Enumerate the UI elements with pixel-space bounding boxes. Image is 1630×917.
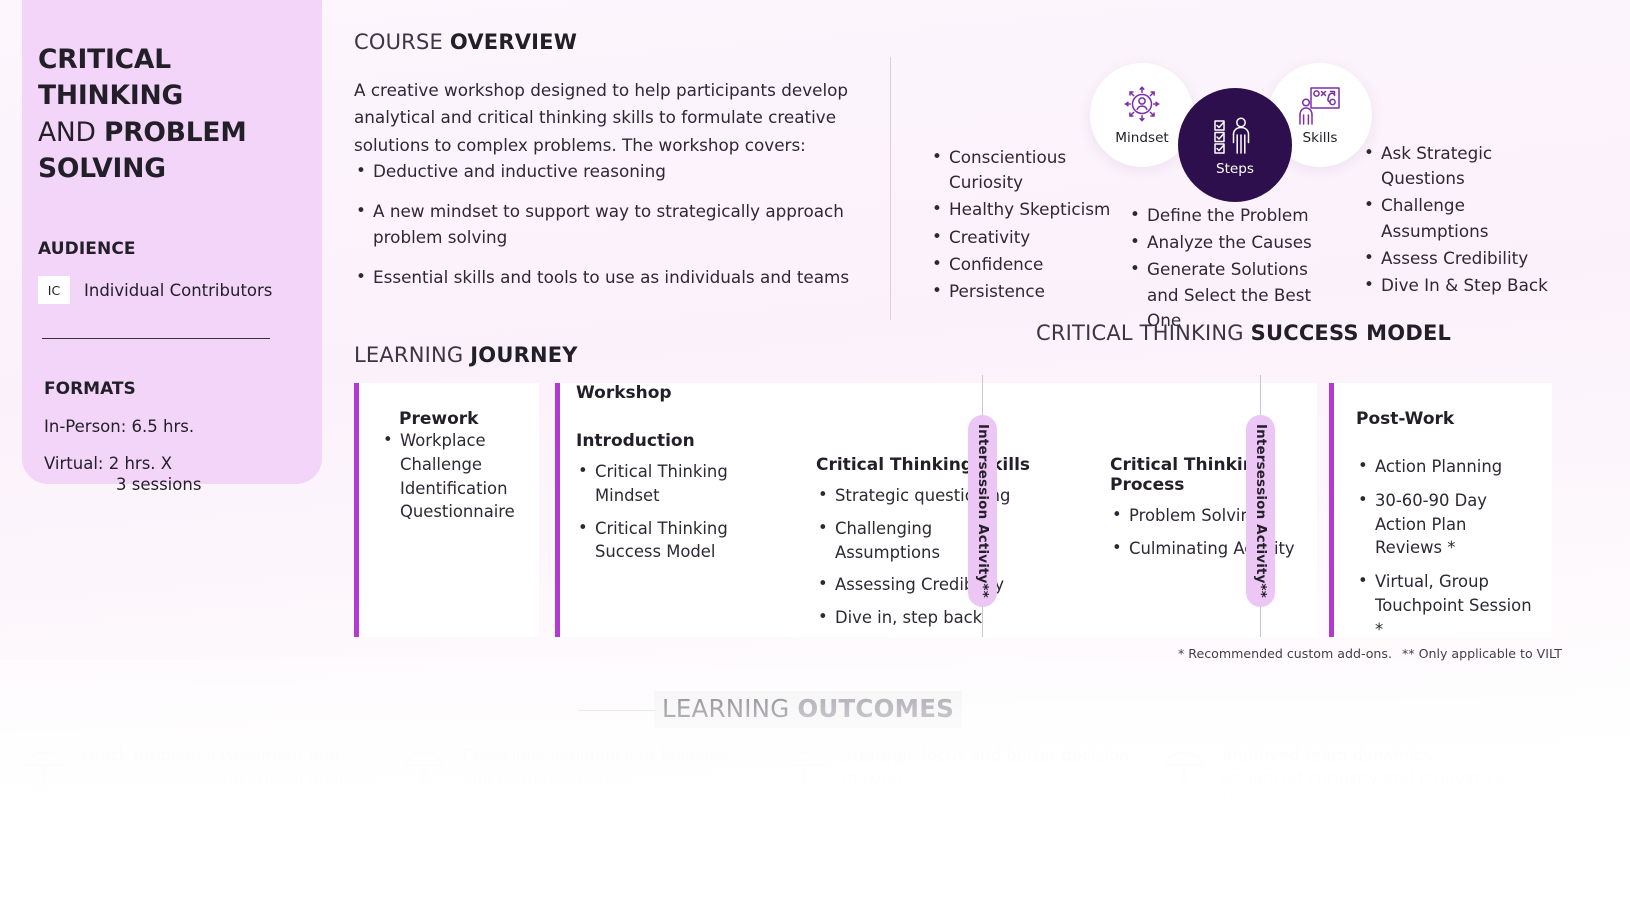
list-item: Assessing Credibility: [816, 573, 1041, 597]
postwork-bullet-list: Action Planning 30-60-90 Day Action Plan…: [1356, 455, 1532, 641]
audience-chip: IC: [38, 276, 70, 304]
outcomes-rule: [578, 710, 656, 711]
list-item: Analyze the Causes: [1128, 230, 1343, 255]
page-title: CRITICAL THINKING AND PROBLEM SOLVING: [38, 42, 296, 187]
page-title-line1: CRITICAL THINKING: [38, 44, 183, 111]
journey-card-prework: Prework Workplace Challenge Identificati…: [354, 383, 539, 637]
column-subtitle: Critical Thinking Skills: [816, 455, 1041, 475]
outcome-text: Strategic focus and better decision maki…: [842, 745, 1140, 813]
list-item: Problem Solving: [1110, 504, 1305, 528]
journey-card-postwork: Post-Work Action Planning 30-60-90 Day A…: [1329, 383, 1552, 637]
page-title-line2a: AND: [38, 117, 104, 148]
umbrella-outcome-icon: 3: [782, 745, 828, 813]
list-item: Virtual, Group Touchpoint Session *: [1356, 570, 1532, 641]
formats-label: FORMATS: [44, 379, 296, 399]
badge-label: Skills: [1303, 130, 1338, 146]
workshop-column-introduction: Workshop Introduction Critical Thinking …: [576, 383, 772, 573]
list-item: Culminating Activity: [1110, 537, 1305, 561]
intersession-activity-pill-2: Intersession Activity**: [1246, 415, 1275, 607]
introduction-bullet-list: Critical Thinking Mindset Critical Think…: [576, 460, 772, 564]
course-one-pager: CRITICAL THINKING AND PROBLEM SOLVING AU…: [0, 0, 1630, 917]
card-title: Prework: [399, 409, 519, 429]
learning-journey-cards: Prework Workplace Challenge Identificati…: [354, 383, 1552, 637]
list-item: Persistence: [930, 279, 1145, 304]
list-item: 30-60-90 Day Action Plan Reviews *: [1356, 489, 1532, 560]
list-item: Challenge Assumptions: [1362, 193, 1562, 243]
intersession-label: Intersession Activity**: [1253, 424, 1268, 598]
format-inperson: In-Person: 6.5 hrs.: [44, 417, 296, 436]
umbrella-outcome-icon: 1: [22, 745, 68, 813]
overview-heading: COURSE OVERVIEW: [354, 30, 874, 54]
outcomes-items: 1 Quick problem assessment and resolutio…: [0, 745, 1630, 813]
prework-bullet-list: Workplace Challenge Identification Quest…: [381, 429, 519, 524]
format-virtual-sessions: 3 sessions: [116, 475, 296, 494]
list-item: Healthy Skepticism: [930, 197, 1145, 222]
umbrella-outcome-icon: 4: [1162, 745, 1208, 813]
outcome-item-4: 4 Improved team dynamics, enhanced curio…: [1140, 745, 1520, 813]
process-column-bullet-list: Problem Solving Culminating Activity: [1110, 504, 1305, 561]
list-item: Critical Thinking Success Model: [576, 517, 772, 565]
svg-text:1: 1: [39, 766, 49, 785]
overview-paragraph: A creative workshop designed to help par…: [354, 77, 874, 159]
list-item: Action Planning: [1356, 455, 1532, 479]
mindset-person-arrows-icon: [1119, 85, 1165, 127]
list-item: Dive in, step back: [816, 606, 1041, 630]
audience-value: Individual Contributors: [84, 281, 272, 300]
workshop-columns: Workshop Introduction Critical Thinking …: [560, 383, 1322, 637]
workshop-column-skills: Critical Thinking Skills Strategic quest…: [816, 383, 1041, 639]
success-model-title: CRITICAL THINKING SUCCESS MODEL: [1036, 321, 1451, 345]
skills-column-bullet-list: Strategic questioning Challenging Assump…: [816, 484, 1041, 630]
list-item: Essential skills and tools to use as ind…: [354, 265, 874, 290]
course-overview-section: COURSE OVERVIEW A creative workshop desi…: [354, 30, 874, 305]
audience-row: IC Individual Contributors: [38, 276, 296, 304]
column-subtitle: Introduction: [576, 431, 772, 451]
list-item: Strategic questioning: [816, 484, 1041, 508]
badge-steps: Steps: [1178, 88, 1292, 202]
intersession-activity-pill-1: Intersession Activity**: [968, 415, 997, 607]
svg-text:3: 3: [799, 766, 809, 785]
success-model-title-light: CRITICAL THINKING: [1036, 321, 1251, 345]
outcome-text: Quick problem assessment and resolution …: [82, 745, 380, 813]
list-item: Creativity: [930, 225, 1145, 250]
intersession-label: Intersession Activity**: [975, 424, 990, 598]
sidebar-panel: CRITICAL THINKING AND PROBLEM SOLVING AU…: [22, 0, 322, 484]
badge-label: Steps: [1216, 161, 1254, 177]
list-item: Ask Strategic Questions: [1362, 141, 1562, 191]
audience-label: AUDIENCE: [38, 239, 296, 259]
workshop-column-process: Critical Thinking Process Problem Solvin…: [1110, 383, 1305, 570]
overview-heading-light: COURSE: [354, 30, 450, 54]
svg-text:2: 2: [419, 766, 429, 785]
mindset-bullet-list: Conscientious Curiosity Healthy Skeptici…: [930, 145, 1145, 306]
badge-label: Mindset: [1115, 130, 1169, 146]
list-item: Critical Thinking Mindset: [576, 460, 772, 508]
outcome-text: Conscious avoidance of fallacies and cog…: [462, 745, 760, 813]
outcomes-heading-light: LEARNING: [662, 694, 797, 723]
outcome-item-2: 2 Conscious avoidance of fallacies and c…: [380, 745, 760, 813]
list-item: Conscientious Curiosity: [930, 145, 1145, 195]
footnote-vilt: ** Only applicable to VILT: [1402, 646, 1562, 661]
card-title: Post-Work: [1356, 409, 1532, 429]
outcome-item-3: 3 Strategic focus and better decision ma…: [760, 745, 1140, 813]
column-subtitle: Critical Thinking Process: [1110, 455, 1305, 495]
overview-heading-bold: OVERVIEW: [450, 30, 577, 54]
skills-bullet-list: Ask Strategic Questions Challenge Assump…: [1362, 141, 1562, 300]
card-title: Workshop: [576, 383, 772, 403]
journey-card-workshop: Workshop Introduction Critical Thinking …: [555, 383, 1317, 637]
steps-bullet-list: Define the Problem Analyze the Causes Ge…: [1128, 203, 1343, 335]
list-item: Challenging Assumptions: [816, 517, 1041, 565]
learning-journey-heading: LEARNING JOURNEY: [354, 343, 578, 367]
outcome-text: Improved team dynamics, enhanced curiosi…: [1222, 745, 1520, 813]
outcomes-heading-bold: OUTCOMES: [797, 694, 954, 723]
journey-heading-light: LEARNING: [354, 343, 470, 367]
umbrella-outcome-icon: 2: [402, 745, 448, 813]
svg-text:4: 4: [1179, 766, 1189, 785]
steps-checklist-person-icon: [1211, 114, 1259, 158]
list-item: Dive In & Step Back: [1362, 273, 1562, 298]
journey-footnote: * Recommended custom add-ons.** Only app…: [1178, 646, 1562, 661]
list-item: Assess Credibility: [1362, 246, 1562, 271]
journey-heading-bold: JOURNEY: [470, 343, 577, 367]
list-item: Define the Problem: [1128, 203, 1343, 228]
footnote-add-ons: * Recommended custom add-ons.: [1178, 646, 1392, 661]
list-item: Deductive and inductive reasoning: [354, 159, 874, 184]
sidebar-divider: [42, 338, 270, 339]
learning-outcomes-heading: LEARNING OUTCOMES: [654, 691, 962, 728]
outcome-item-1: 1 Quick problem assessment and resolutio…: [0, 745, 380, 813]
overview-bullet-list: Deductive and inductive reasoning A new …: [354, 159, 874, 290]
format-virtual: Virtual: 2 hrs. X: [44, 454, 296, 473]
skills-strategy-board-icon: [1297, 85, 1343, 127]
list-item: A new mindset to support way to strategi…: [354, 199, 874, 249]
success-model-title-bold: SUCCESS MODEL: [1251, 321, 1451, 345]
list-item: Workplace Challenge Identification Quest…: [381, 429, 519, 524]
list-item: Confidence: [930, 252, 1145, 277]
vertical-divider: [890, 57, 891, 320]
